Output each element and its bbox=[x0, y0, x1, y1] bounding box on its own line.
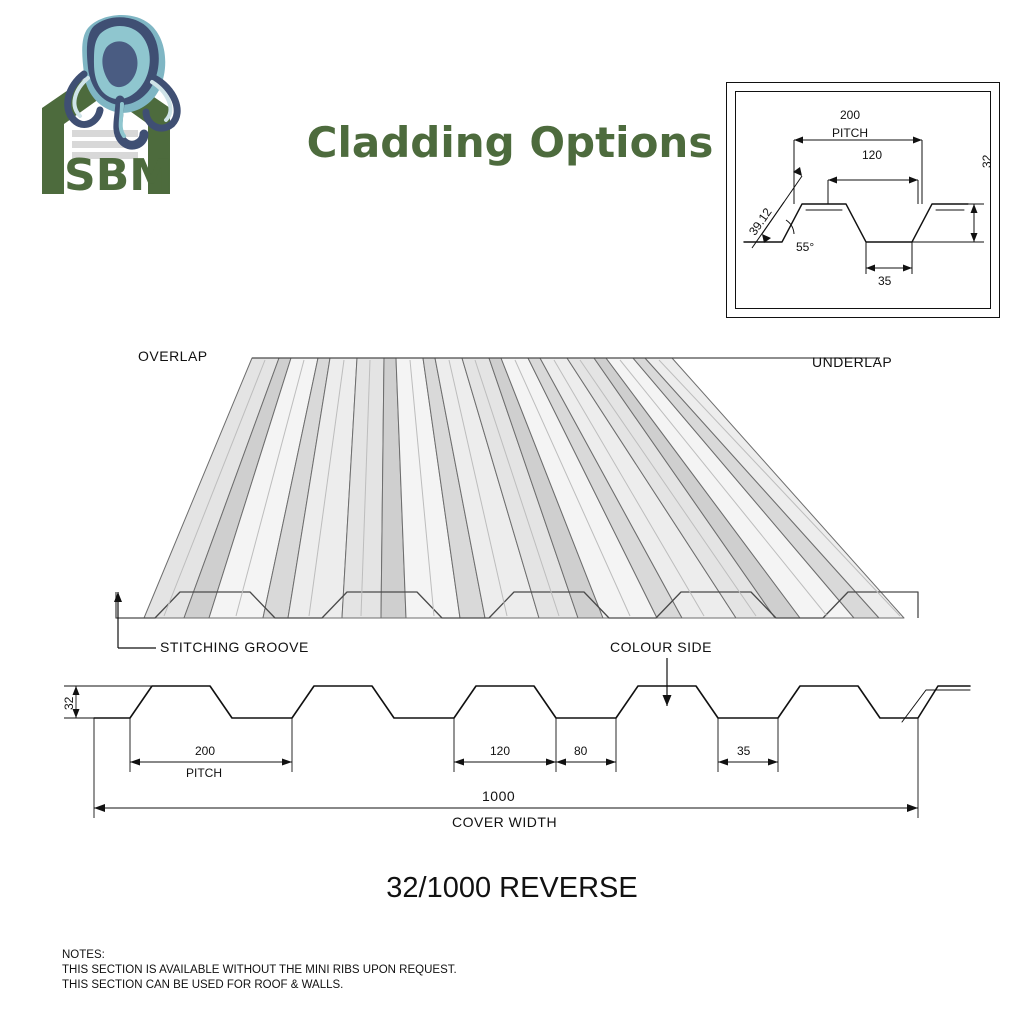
logo-wordmark: SBM bbox=[64, 150, 173, 198]
profile-detail-box: 200 PITCH 120 32 35 55° 39.12 bbox=[726, 82, 1000, 318]
cs-cover-width-label: COVER WIDTH bbox=[452, 814, 557, 830]
detail-valley-width: 35 bbox=[878, 274, 891, 288]
notes-line-1: THIS SECTION IS AVAILABLE WITHOUT THE MI… bbox=[62, 963, 762, 978]
detail-height: 32 bbox=[980, 155, 994, 168]
notes-heading: NOTES: bbox=[62, 948, 762, 963]
cs-pitch-label: PITCH bbox=[186, 766, 222, 780]
cs-crown-width: 120 bbox=[490, 744, 510, 758]
notes-line-2: THIS SECTION CAN BE USED FOR ROOF & WALL… bbox=[62, 978, 762, 993]
profile-detail-drawing bbox=[736, 92, 992, 310]
detail-crown-width: 120 bbox=[862, 148, 882, 162]
overlap-label: OVERLAP bbox=[138, 348, 208, 364]
page-title: Cladding Options bbox=[250, 118, 770, 167]
cs-height: 32 bbox=[62, 697, 76, 710]
cs-cover-width-value: 1000 bbox=[482, 788, 515, 804]
sheet-3d-drawing: OVERLAP UNDERLAP STITCHING GROOVE COLOUR… bbox=[60, 330, 960, 650]
mammoth-logo-icon bbox=[68, 15, 178, 145]
detail-angle: 55° bbox=[796, 240, 814, 254]
cs-rib-gap: 80 bbox=[574, 744, 587, 758]
detail-pitch-value: 200 bbox=[840, 108, 860, 122]
cs-valley-width: 35 bbox=[737, 744, 750, 758]
notes-block: NOTES: THIS SECTION IS AVAILABLE WITHOUT… bbox=[62, 948, 762, 993]
sbm-logo: SBM bbox=[28, 8, 228, 198]
profile-detail-frame: 200 PITCH 120 32 35 55° 39.12 bbox=[735, 91, 991, 309]
cs-pitch-value: 200 bbox=[195, 744, 215, 758]
cross-section-drawing: 32 200 PITCH 120 80 35 1000 COVER WIDTH bbox=[40, 650, 980, 850]
product-name: 32/1000 REVERSE bbox=[212, 872, 812, 905]
detail-pitch-label: PITCH bbox=[832, 126, 868, 140]
underlap-label: UNDERLAP bbox=[812, 354, 892, 370]
